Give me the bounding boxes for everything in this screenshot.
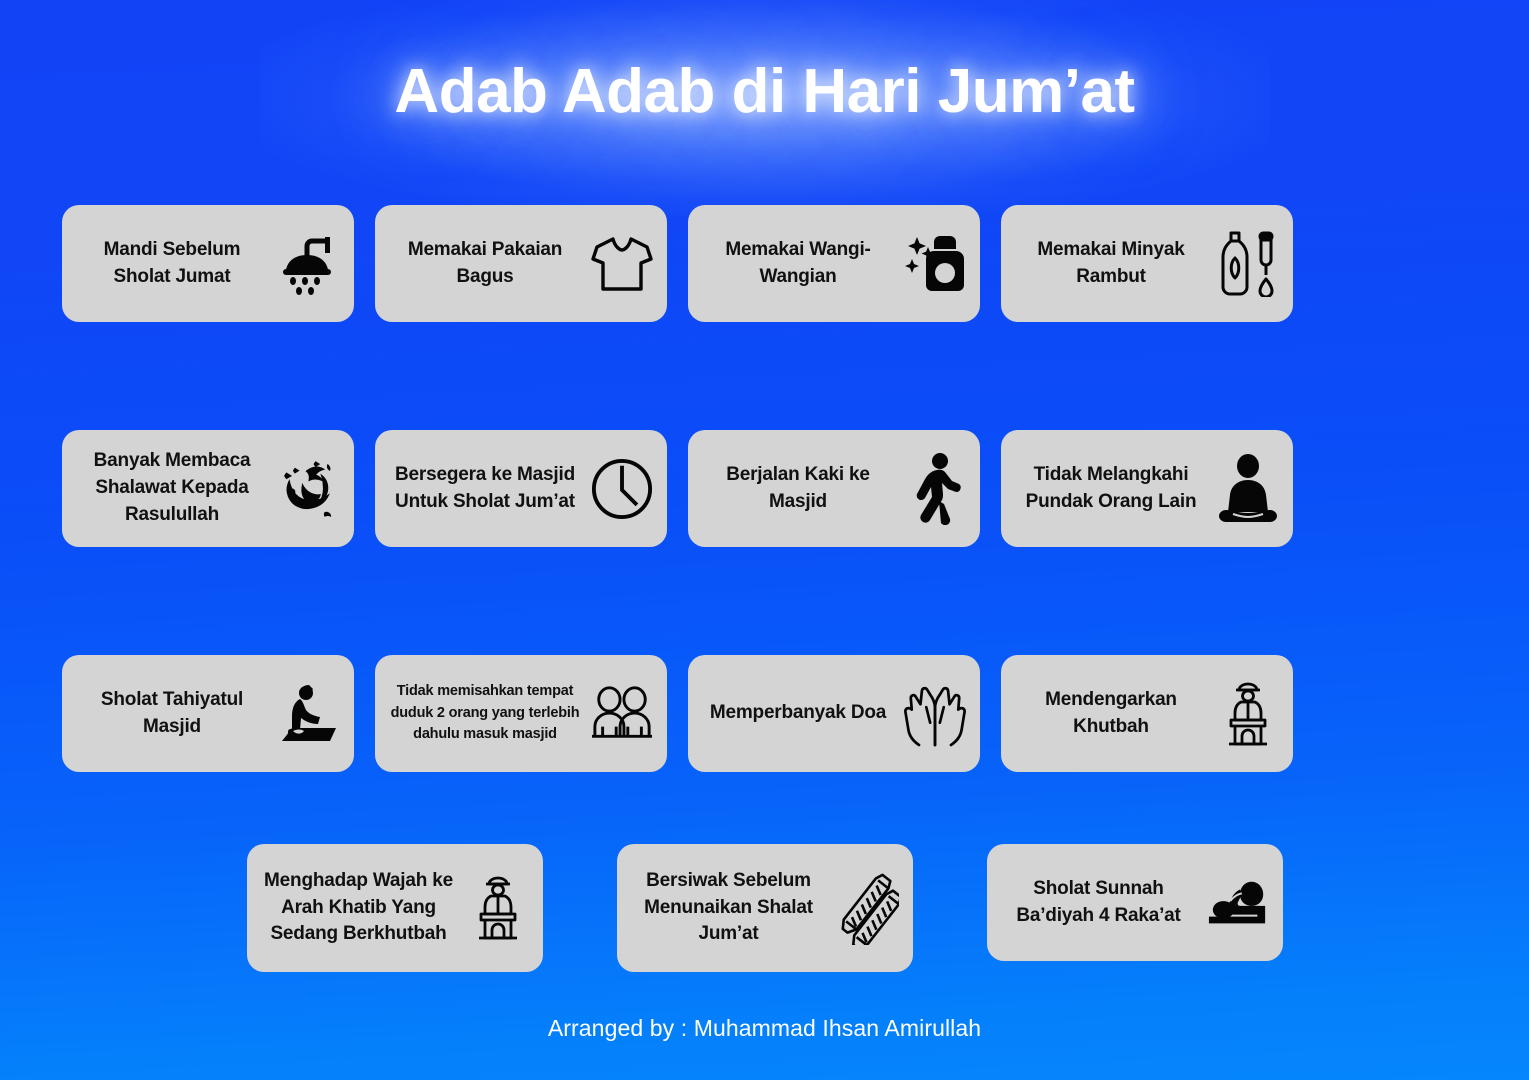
card-tidak-melangkahi-pundak[interactable]: Tidak Melangkahi Pundak Orang Lain xyxy=(1001,430,1293,547)
card-menghadap-wajah-ke-khatib[interactable]: Menghadap Wajah ke Arah Khatib Yang Seda… xyxy=(247,844,543,972)
card-label: Tidak Melangkahi Pundak Orang Lain xyxy=(1015,462,1207,516)
two-people-icon xyxy=(591,679,653,749)
praying-person-mat-icon xyxy=(278,679,340,749)
praying-hands-icon xyxy=(904,679,966,749)
card-memakai-pakaian-bagus[interactable]: Memakai Pakaian Bagus xyxy=(375,205,667,322)
card-label: Sholat Sunnah Ba’diyah 4 Raka’at xyxy=(1001,876,1197,930)
card-label: Bersiwak Sebelum Menunaikan Shalat Jum’a… xyxy=(631,868,827,949)
muhammad-calligraphy-icon xyxy=(278,454,340,524)
card-label: Sholat Tahiyatul Masjid xyxy=(76,687,268,741)
card-label: Mandi Sebelum Sholat Jumat xyxy=(76,237,268,291)
card-label: Mendengarkan Khutbah xyxy=(1015,687,1207,741)
footer-credit: Arranged by : Muhammad Ihsan Amirullah xyxy=(0,1015,1529,1042)
card-label: Memakai Pakaian Bagus xyxy=(389,237,581,291)
card-label: Tidak memisahkan tempat duduk 2 orang ya… xyxy=(389,681,581,746)
card-label: Memperbanyak Doa xyxy=(702,700,894,727)
card-bersiwak-sebelum-shalat[interactable]: Bersiwak Sebelum Menunaikan Shalat Jum’a… xyxy=(617,844,913,972)
khatib-mimbar-icon xyxy=(467,873,529,943)
sitting-person-icon xyxy=(1217,454,1279,524)
card-label: Memakai Minyak Rambut xyxy=(1015,237,1207,291)
khatib-mimbar-icon xyxy=(1217,679,1279,749)
card-row-2: Banyak Membaca Shalawat Kepada Rasululla… xyxy=(62,430,1467,547)
card-row-4: Menghadap Wajah ke Arah Khatib Yang Seda… xyxy=(62,844,1467,972)
card-memakai-wangi-wangian[interactable]: Memakai Wangi-Wangian xyxy=(688,205,980,322)
prostrating-person-icon xyxy=(1207,868,1269,938)
card-row-3: Sholat Tahiyatul Masjid Tidak memisahkan… xyxy=(62,655,1467,772)
card-memperbanyak-doa[interactable]: Memperbanyak Doa xyxy=(688,655,980,772)
card-mendengarkan-khutbah[interactable]: Mendengarkan Khutbah xyxy=(1001,655,1293,772)
card-banyak-membaca-shalawat[interactable]: Banyak Membaca Shalawat Kepada Rasululla… xyxy=(62,430,354,547)
card-memakai-minyak-rambut[interactable]: Memakai Minyak Rambut xyxy=(1001,205,1293,322)
card-label: Banyak Membaca Shalawat Kepada Rasululla… xyxy=(76,448,268,529)
card-sholat-tahiyatul-masjid[interactable]: Sholat Tahiyatul Masjid xyxy=(62,655,354,772)
card-label: Memakai Wangi-Wangian xyxy=(702,237,894,291)
card-sholat-sunnah-badiyah[interactable]: Sholat Sunnah Ba’diyah 4 Raka’at xyxy=(987,844,1283,961)
card-label: Berjalan Kaki ke Masjid xyxy=(702,462,894,516)
perfume-bottle-icon xyxy=(904,229,966,299)
card-berjalan-kaki-ke-masjid[interactable]: Berjalan Kaki ke Masjid xyxy=(688,430,980,547)
card-row-1: Mandi Sebelum Sholat Jumat xyxy=(62,205,1467,322)
siwak-sticks-icon xyxy=(837,873,899,943)
adab-card-grid: Mandi Sebelum Sholat Jumat xyxy=(62,205,1467,972)
card-label: Menghadap Wajah ke Arah Khatib Yang Seda… xyxy=(261,868,457,949)
tshirt-icon xyxy=(591,229,653,299)
walking-person-icon xyxy=(904,454,966,524)
card-label: Bersegera ke Masjid Untuk Sholat Jum’at xyxy=(389,462,581,516)
card-bersegera-ke-masjid[interactable]: Bersegera ke Masjid Untuk Sholat Jum’at xyxy=(375,430,667,547)
card-tidak-memisahkan-tempat-duduk[interactable]: Tidak memisahkan tempat duduk 2 orang ya… xyxy=(375,655,667,772)
page-title: Adab Adab di Hari Jum’at xyxy=(0,56,1529,127)
shower-icon xyxy=(278,229,340,299)
clock-icon xyxy=(591,454,653,524)
card-mandi-sebelum-sholat-jumat[interactable]: Mandi Sebelum Sholat Jumat xyxy=(62,205,354,322)
hair-oil-bottle-dropper-icon xyxy=(1217,229,1279,299)
